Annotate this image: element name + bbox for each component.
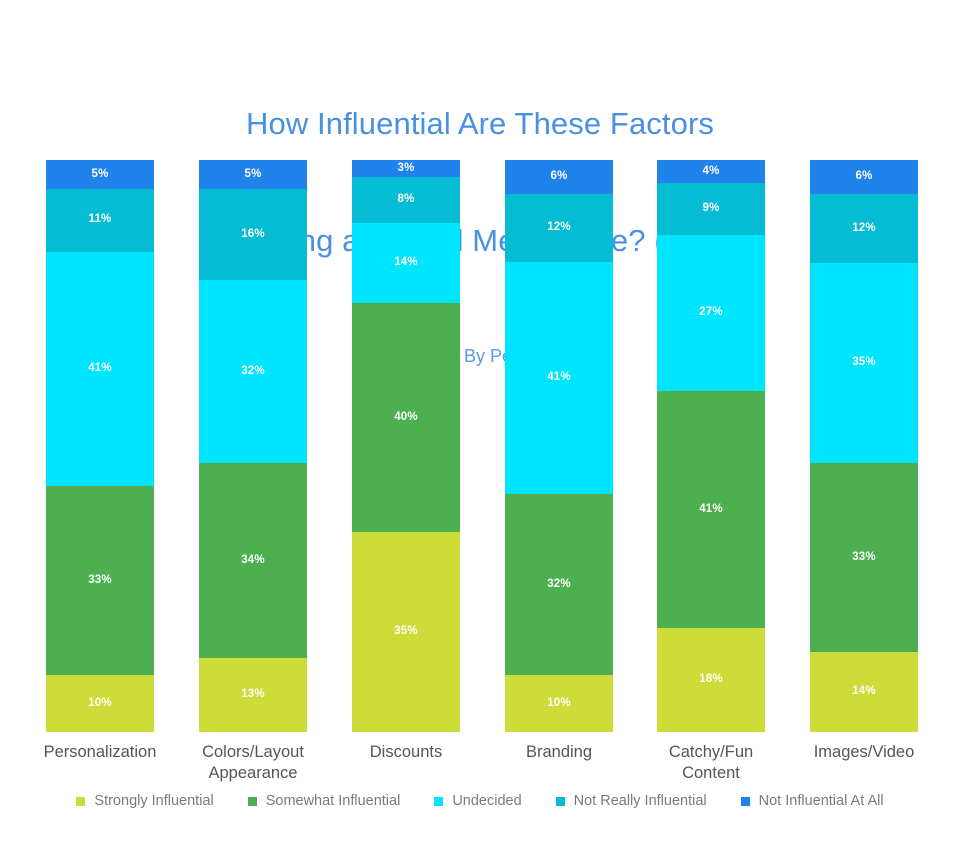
bar-segment[interactable]: 16% <box>199 189 307 281</box>
legend-item[interactable]: Not Influential At All <box>741 793 884 809</box>
legend-label: Not Influential At All <box>759 793 884 809</box>
bar-segment[interactable]: 27% <box>657 235 765 391</box>
x-axis-labels: PersonalizationColors/Layout AppearanceD… <box>0 742 960 792</box>
legend-item[interactable]: Strongly Influential <box>76 793 213 809</box>
chart-title-line-1: How Influential Are These Factors <box>0 104 960 143</box>
bar-segment[interactable]: 34% <box>199 463 307 657</box>
bar-segment-value-label: 10% <box>88 698 112 710</box>
bar-segment[interactable]: 41% <box>657 391 765 628</box>
bar-segment-value-label: 16% <box>241 229 265 241</box>
legend-label: Somewhat Influential <box>266 793 401 809</box>
bar-column[interactable]: 6%12%35%33%14% <box>810 160 918 732</box>
x-axis-label: Catchy/Fun Content <box>636 742 786 784</box>
bar-segment-value-label: 41% <box>88 363 112 375</box>
legend-swatch-icon <box>741 797 750 806</box>
x-axis-label: Personalization <box>25 742 175 763</box>
bar-segment[interactable]: 13% <box>199 658 307 732</box>
bar-segment-value-label: 35% <box>394 626 418 638</box>
bar-segment[interactable]: 12% <box>505 194 613 262</box>
bar-segment[interactable]: 32% <box>199 280 307 463</box>
bar-segment-value-label: 18% <box>699 674 723 686</box>
legend-swatch-icon <box>76 797 85 806</box>
bar-segment-value-label: 27% <box>699 307 723 319</box>
bar-segment-value-label: 32% <box>547 579 571 591</box>
bar-segment[interactable]: 3% <box>352 160 460 177</box>
bar-segment-value-label: 41% <box>547 372 571 384</box>
chart-container: How Influential Are These Factors in Mak… <box>0 0 960 864</box>
x-axis-label: Images/Video <box>789 742 939 763</box>
bar-segment-value-label: 12% <box>852 223 876 235</box>
bar-segment-value-label: 32% <box>241 366 265 378</box>
bar-segment[interactable]: 6% <box>810 160 918 194</box>
bar-segment[interactable]: 5% <box>199 160 307 189</box>
bar-segment-value-label: 14% <box>394 257 418 269</box>
bar-segment-value-label: 41% <box>699 504 723 516</box>
bar-segment-value-label: 10% <box>547 698 571 710</box>
bar-segment-value-label: 35% <box>852 357 876 369</box>
legend-item[interactable]: Somewhat Influential <box>248 793 401 809</box>
bar-segment[interactable]: 18% <box>657 628 765 732</box>
bar-segment[interactable]: 8% <box>352 177 460 223</box>
bar-segment[interactable]: 41% <box>46 252 154 487</box>
legend-swatch-icon <box>434 797 443 806</box>
bar-segment-value-label: 6% <box>550 171 567 183</box>
x-axis-label: Colors/Layout Appearance <box>178 742 328 784</box>
bar-column[interactable]: 4%9%27%41%18% <box>657 160 765 732</box>
bar-segment-value-label: 4% <box>702 166 719 178</box>
bar-segment[interactable]: 40% <box>352 303 460 532</box>
bar-segment-value-label: 6% <box>855 171 872 183</box>
x-axis-label: Discounts <box>331 742 481 763</box>
bar-segment-value-label: 40% <box>394 412 418 424</box>
bar-segment-value-label: 5% <box>244 169 261 181</box>
bar-segment[interactable]: 4% <box>657 160 765 183</box>
bar-segment[interactable]: 14% <box>810 652 918 732</box>
bar-segment[interactable]: 10% <box>505 675 613 732</box>
bar-column[interactable]: 5%11%41%33%10% <box>46 160 154 732</box>
chart-legend: Strongly InfluentialSomewhat Influential… <box>0 793 960 809</box>
bar-segment[interactable]: 14% <box>352 223 460 303</box>
bar-segment-value-label: 33% <box>88 575 112 587</box>
legend-item[interactable]: Undecided <box>434 793 521 809</box>
bar-segment[interactable]: 6% <box>505 160 613 194</box>
bar-segment[interactable]: 11% <box>46 189 154 252</box>
bar-segment-value-label: 3% <box>397 163 414 175</box>
bar-segment[interactable]: 35% <box>810 263 918 463</box>
bar-segment-value-label: 5% <box>91 169 108 181</box>
bar-segment[interactable]: 33% <box>810 463 918 652</box>
bar-segment[interactable]: 41% <box>505 262 613 494</box>
x-axis-label: Branding <box>484 742 634 763</box>
bar-segment-value-label: 11% <box>89 214 112 226</box>
plot-area: 5%11%41%33%10%5%16%32%34%13%3%8%14%40%35… <box>0 160 960 732</box>
legend-item[interactable]: Not Really Influential <box>556 793 707 809</box>
bar-column[interactable]: 5%16%32%34%13% <box>199 160 307 732</box>
bar-segment[interactable]: 5% <box>46 160 154 189</box>
bar-segment-value-label: 12% <box>547 222 571 234</box>
bar-segment[interactable]: 10% <box>46 675 154 732</box>
bar-segment-value-label: 13% <box>241 689 265 701</box>
bar-segment[interactable]: 32% <box>505 494 613 675</box>
legend-label: Strongly Influential <box>94 793 213 809</box>
bar-segment[interactable]: 33% <box>46 486 154 675</box>
legend-swatch-icon <box>248 797 257 806</box>
bar-segment-value-label: 8% <box>397 194 414 206</box>
bar-segment-value-label: 34% <box>241 555 265 567</box>
bar-segment[interactable]: 35% <box>352 532 460 732</box>
legend-swatch-icon <box>556 797 565 806</box>
bar-segment-value-label: 14% <box>852 686 876 698</box>
bar-segment-value-label: 33% <box>852 552 876 564</box>
legend-label: Not Really Influential <box>574 793 707 809</box>
bar-segment[interactable]: 9% <box>657 183 765 235</box>
bar-segment-value-label: 9% <box>702 203 719 215</box>
bar-column[interactable]: 6%12%41%32%10% <box>505 160 613 732</box>
legend-label: Undecided <box>452 793 521 809</box>
bar-column[interactable]: 3%8%14%40%35% <box>352 160 460 732</box>
bar-segment[interactable]: 12% <box>810 194 918 263</box>
